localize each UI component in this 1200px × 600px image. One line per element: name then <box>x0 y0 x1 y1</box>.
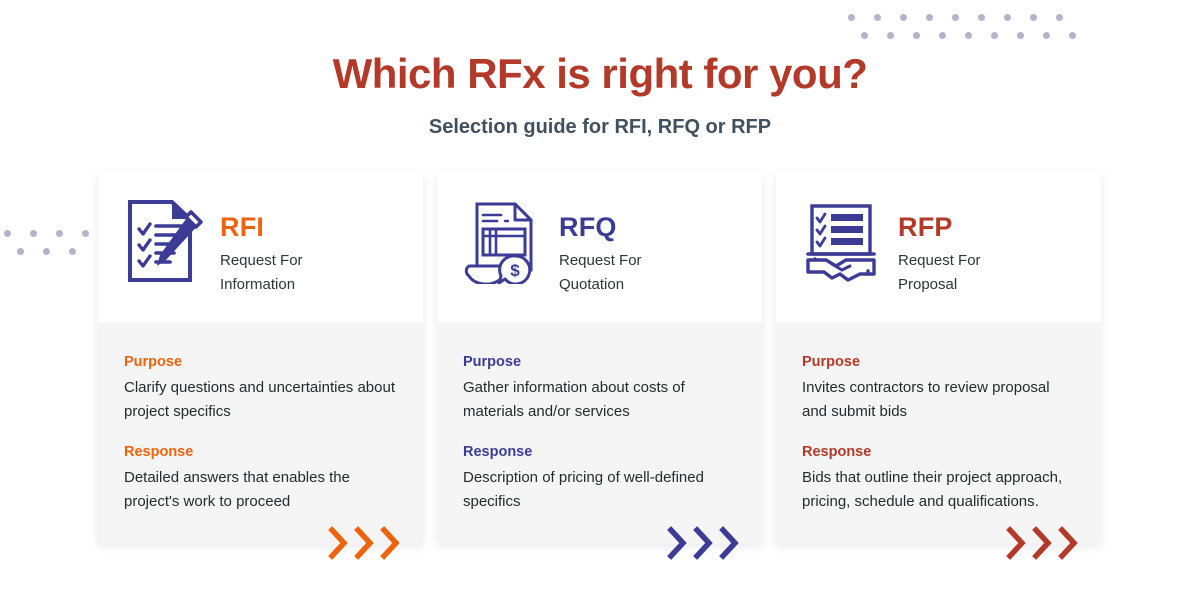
chevron-right-icon[interactable] <box>379 526 401 560</box>
response-label: Response <box>463 444 736 460</box>
card-header: RFP Request For Proposal <box>776 172 1101 322</box>
card-abbreviation: RFI <box>220 214 303 241</box>
page-subtitle: Selection guide for RFI, RFQ or RFP <box>0 98 1200 139</box>
page-title: Which RFx is right for you? <box>0 0 1200 98</box>
card-abbreviation: RFP <box>898 214 981 241</box>
checklist-handshake-icon <box>802 198 882 284</box>
response-text: Description of pricing of well-defined s… <box>463 466 736 514</box>
document-checklist-pen-icon <box>124 198 204 284</box>
card-full-name: Request For Quotation <box>559 249 642 296</box>
chevron-group[interactable] <box>1005 526 1079 560</box>
chevron-right-icon[interactable] <box>666 526 688 560</box>
purpose-text: Gather information about costs of materi… <box>463 376 736 424</box>
card-header: RFI Request For Information <box>98 172 423 322</box>
dot-row <box>0 230 108 237</box>
purpose-label: Purpose <box>802 354 1075 370</box>
card-rfq[interactable]: $ RFQ Request For Quotation Purpose Gath… <box>437 172 762 544</box>
dot <box>30 230 37 237</box>
dot <box>56 230 63 237</box>
chevron-right-icon[interactable] <box>1005 526 1027 560</box>
card-title-group: RFI Request For Information <box>220 198 303 296</box>
card-body: Purpose Clarify questions and uncertaint… <box>98 322 423 544</box>
purpose-text: Clarify questions and uncertainties abou… <box>124 376 397 424</box>
chevron-right-icon[interactable] <box>1031 526 1053 560</box>
chevron-group[interactable] <box>666 526 740 560</box>
card-header: $ RFQ Request For Quotation <box>437 172 762 322</box>
card-title-group: RFP Request For Proposal <box>898 198 981 296</box>
svg-text:$: $ <box>510 261 520 280</box>
card-list: RFI Request For Information Purpose Clar… <box>98 172 1102 544</box>
card-full-name-line2: Quotation <box>559 273 642 297</box>
chevron-right-icon[interactable] <box>1057 526 1079 560</box>
dot <box>17 248 24 255</box>
document-table-dollar-icon: $ <box>463 198 543 284</box>
chevron-right-icon[interactable] <box>718 526 740 560</box>
card-rfp[interactable]: RFP Request For Proposal Purpose Invites… <box>776 172 1101 544</box>
dot-row <box>0 248 108 255</box>
chevron-right-icon[interactable] <box>692 526 714 560</box>
card-body: Purpose Gather information about costs o… <box>437 322 762 544</box>
response-label: Response <box>802 444 1075 460</box>
dot <box>69 248 76 255</box>
card-full-name: Request For Information <box>220 249 303 296</box>
card-full-name-line1: Request For <box>559 249 642 273</box>
chevron-group[interactable] <box>327 526 401 560</box>
card-rfi[interactable]: RFI Request For Information Purpose Clar… <box>98 172 423 544</box>
card-full-name: Request For Proposal <box>898 249 981 296</box>
purpose-label: Purpose <box>124 354 397 370</box>
card-full-name-line1: Request For <box>220 249 303 273</box>
card-full-name-line1: Request For <box>898 249 981 273</box>
response-label: Response <box>124 444 397 460</box>
page-header: Which RFx is right for you? Selection gu… <box>0 0 1200 139</box>
purpose-label: Purpose <box>463 354 736 370</box>
card-abbreviation: RFQ <box>559 214 642 241</box>
dot <box>82 230 89 237</box>
purpose-text: Invites contractors to review proposal a… <box>802 376 1075 424</box>
dot <box>4 230 11 237</box>
dot <box>43 248 50 255</box>
chevron-right-icon[interactable] <box>327 526 349 560</box>
chevron-right-icon[interactable] <box>353 526 375 560</box>
response-text: Detailed answers that enables the projec… <box>124 466 397 514</box>
card-full-name-line2: Proposal <box>898 273 981 297</box>
card-full-name-line2: Information <box>220 273 303 297</box>
card-body: Purpose Invites contractors to review pr… <box>776 322 1101 544</box>
decorative-dots-left <box>0 230 108 255</box>
response-text: Bids that outline their project approach… <box>802 466 1075 514</box>
card-title-group: RFQ Request For Quotation <box>559 198 642 296</box>
